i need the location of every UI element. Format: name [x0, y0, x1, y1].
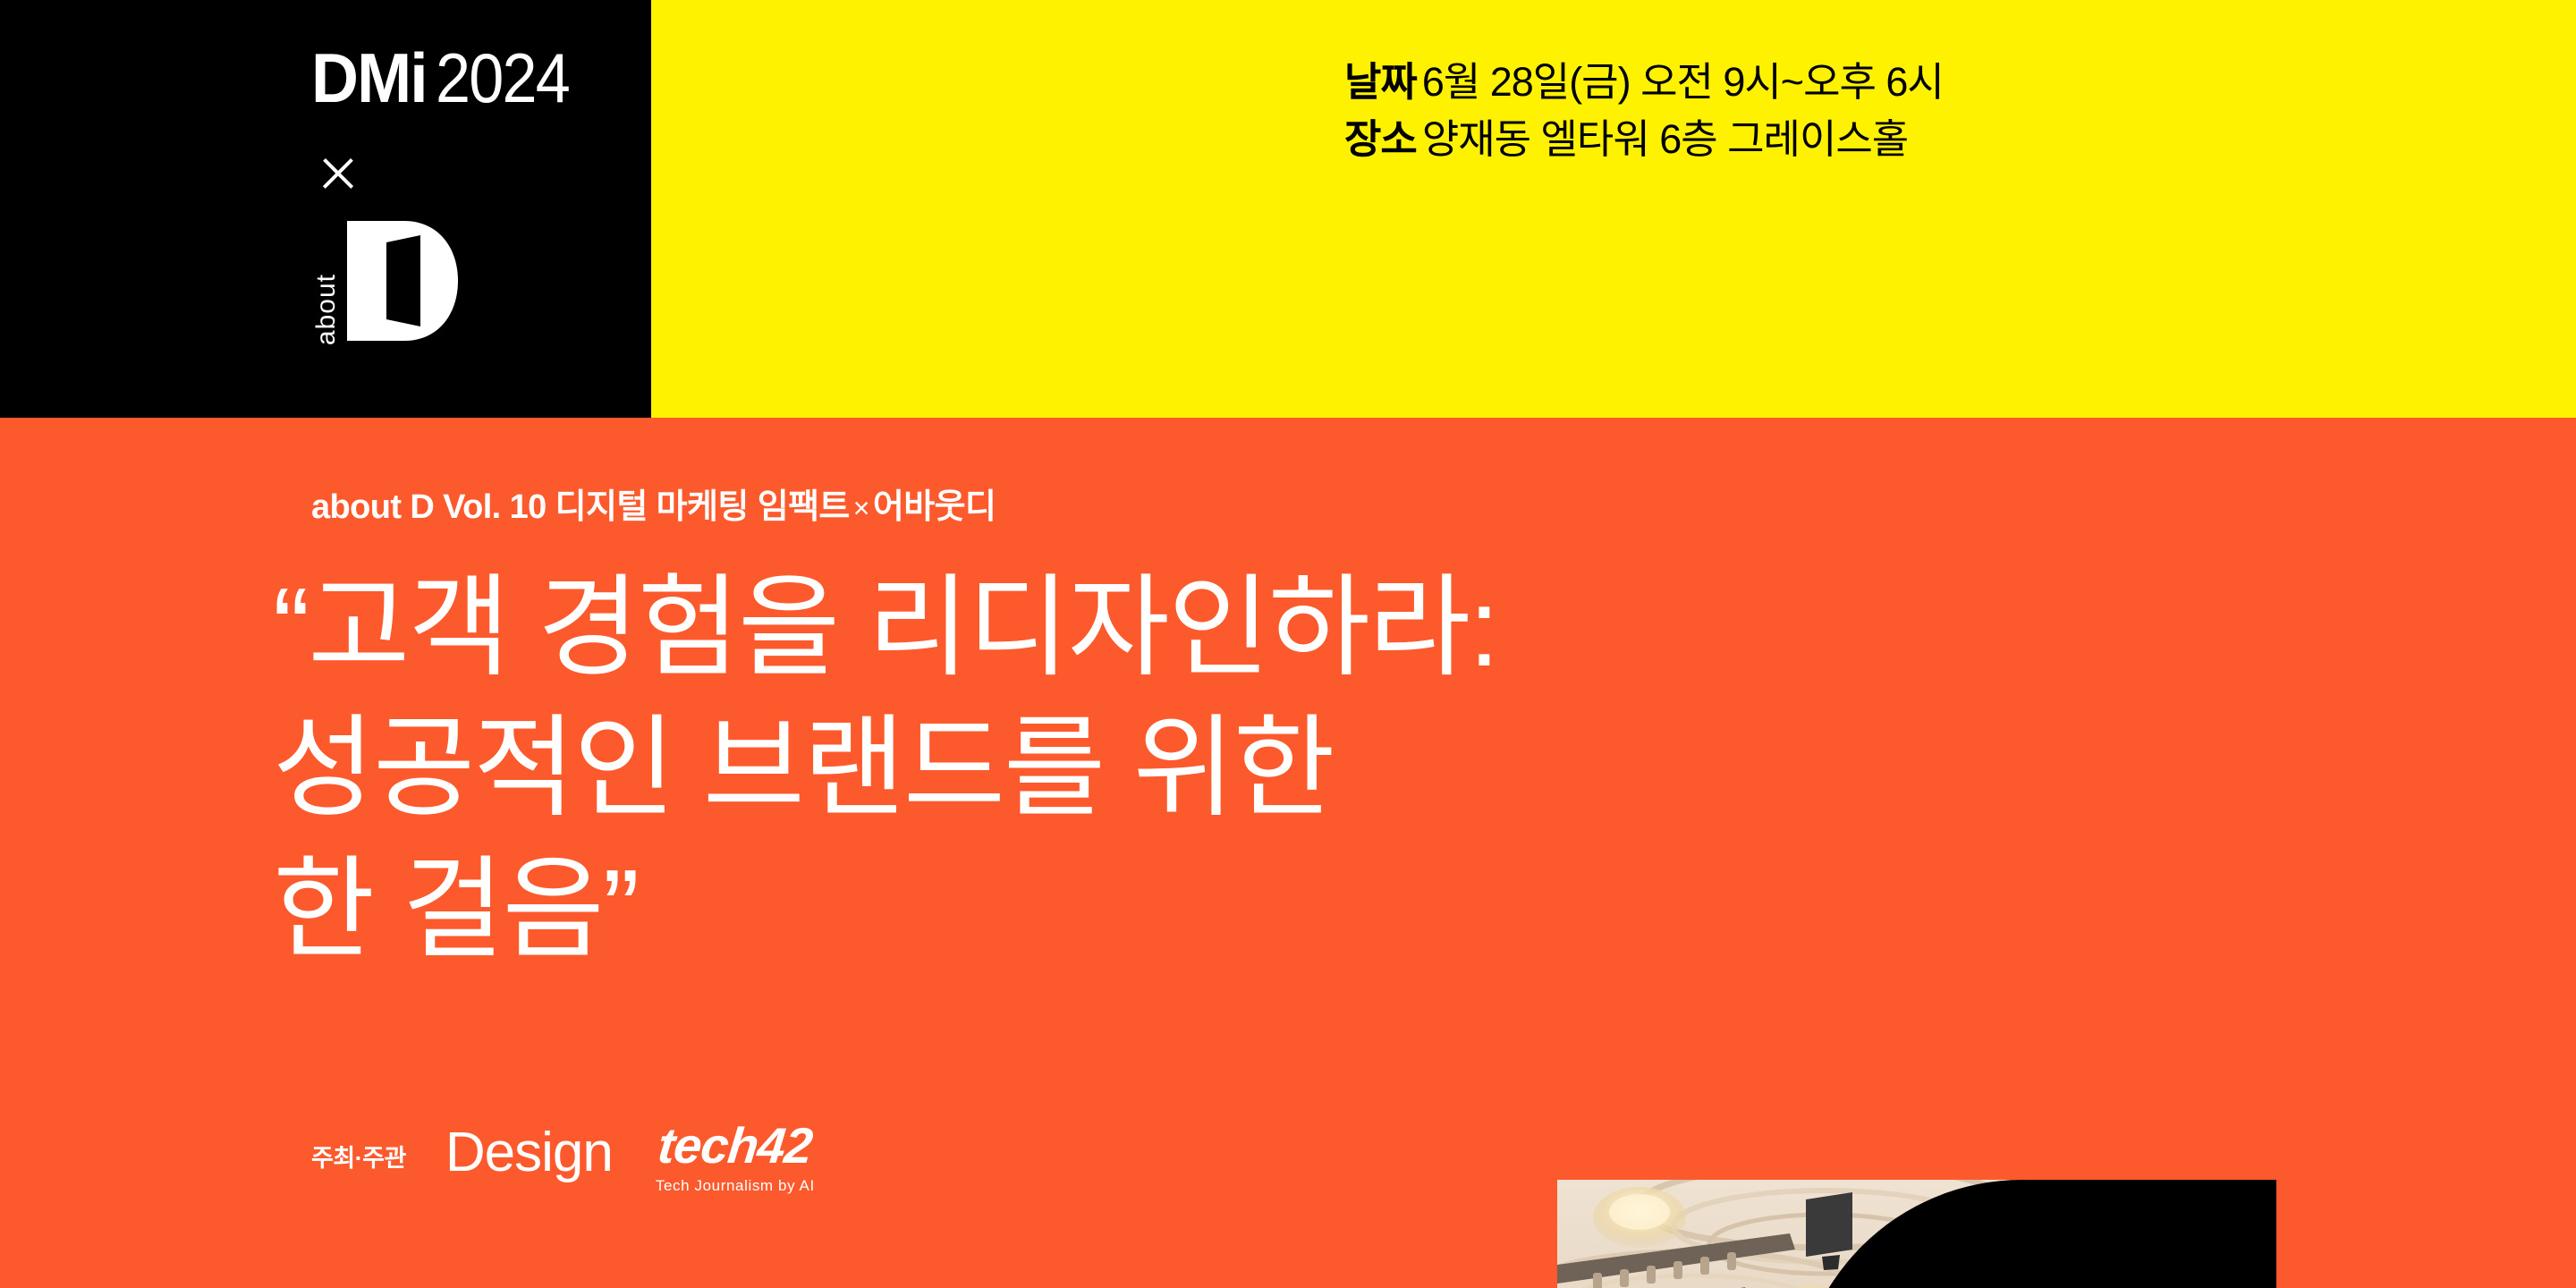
main-area: about D Vol. 10 디지털 마케팅 임팩트×어바웃디 “고객 경험을… — [0, 418, 2576, 1288]
dmi-year: 2024 — [436, 43, 569, 113]
about-d-logo: about — [313, 222, 492, 347]
about-d-word: about — [313, 274, 340, 345]
conference-photo-block: 디지털 마케팅 인 — [1557, 1180, 2276, 1288]
tech42-logo: tech42 Tech Journalism by AI — [656, 1121, 815, 1195]
sponsor-label: 주최·주관 — [311, 1139, 406, 1174]
eyebrow-line: about D Vol. 10 디지털 마케팅 임팩트×어바웃디 — [311, 490, 996, 524]
date-value: 6월 28일(금) 오전 9시~오후 6시 — [1422, 59, 1944, 105]
event-poster: DMi 2024 about 날짜6월 28일(금) 오전 9시~오후 6 — [0, 0, 2576, 1288]
venue-label: 장소 — [1344, 116, 1417, 162]
date-label: 날짜 — [1344, 59, 1417, 105]
design-logo: Design — [445, 1125, 613, 1181]
tech42-wordmark: tech42 — [656, 1121, 814, 1171]
top-band: DMi 2024 about 날짜6월 28일(금) 오전 9시~오후 6 — [0, 0, 2576, 418]
eyebrow-korean-title: 디지털 마케팅 임팩트 — [555, 488, 850, 526]
cross-icon — [315, 150, 361, 197]
about-d-letter-icon — [345, 219, 460, 347]
eyebrow-cross: × — [850, 492, 873, 524]
dmi-2024-logo: DMi 2024 — [311, 43, 584, 113]
event-details: 날짜6월 28일(금) 오전 9시~오후 6시 장소양재동 엘타워 6층 그레이… — [1344, 54, 1944, 168]
brand-panel: DMi 2024 about — [0, 0, 651, 418]
info-panel: 날짜6월 28일(금) 오전 9시~오후 6시 장소양재동 엘타워 6층 그레이… — [651, 0, 2576, 418]
page-title: “고객 경험을 리디자인하라: 성공적인 브랜드를 위한 한 걸음” — [273, 558, 1498, 980]
eyebrow-partner: 어바웃디 — [873, 488, 996, 526]
venue-value: 양재동 엘타워 6층 그레이스홀 — [1422, 116, 1908, 162]
event-venue-line: 장소양재동 엘타워 6층 그레이스홀 — [1344, 111, 1944, 168]
dmi-wordmark: DMi — [311, 43, 427, 113]
tech42-tagline: Tech Journalism by AI — [656, 1177, 815, 1195]
eyebrow-volume: about D Vol. 10 — [311, 488, 547, 526]
sponsor-row: 주최·주관 Design tech42 Tech Journalism by A… — [311, 1124, 815, 1187]
event-date-line: 날짜6월 28일(금) 오전 9시~오후 6시 — [1344, 54, 1944, 111]
